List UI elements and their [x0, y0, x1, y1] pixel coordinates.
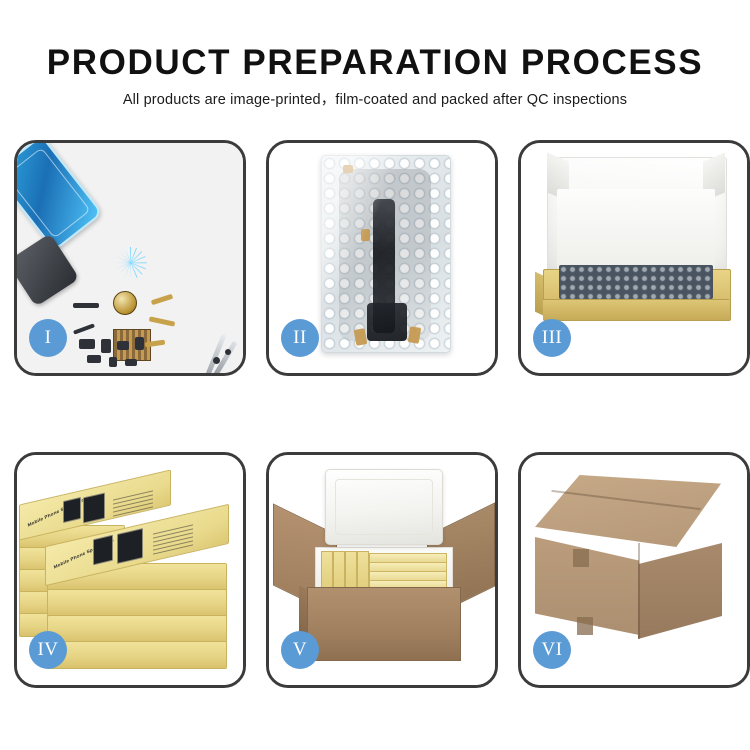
carton-tape — [573, 549, 589, 567]
step-panel-2[interactable]: II — [266, 140, 498, 376]
foam-sheet-icon — [557, 189, 715, 271]
step-badge-2: II — [281, 319, 319, 357]
box-window-icon — [63, 497, 81, 523]
chip-icon — [79, 339, 95, 349]
step-panel-1[interactable]: I — [14, 140, 246, 376]
tape-tab-icon — [361, 229, 370, 241]
chip-icon — [135, 337, 144, 350]
styrofoam-lid-icon — [325, 469, 443, 545]
stacked-box — [47, 589, 227, 617]
chip-icon — [73, 303, 99, 308]
screw-icon — [213, 357, 220, 364]
step-panel-5[interactable]: V — [266, 452, 498, 688]
box-window-icon — [117, 528, 143, 564]
screw-icon — [225, 349, 231, 355]
step-badge-5: V — [281, 631, 319, 669]
connector-block-icon — [367, 303, 407, 341]
box-window-icon — [93, 535, 113, 566]
chip-icon — [109, 357, 117, 367]
chip-icon — [87, 355, 101, 363]
step-badge-1: I — [29, 319, 67, 357]
stacked-box — [47, 615, 227, 643]
step-badge-3: III — [533, 319, 571, 357]
step-panel-6[interactable]: VI — [518, 452, 750, 688]
stacked-box — [47, 641, 227, 669]
chip-icon — [101, 339, 111, 353]
step-panel-3[interactable]: III — [518, 140, 750, 376]
chip-icon — [125, 359, 137, 366]
carton-body — [307, 587, 461, 661]
step-badge-4: IV — [29, 631, 67, 669]
carton-edge — [638, 543, 640, 639]
carton-tape — [577, 617, 593, 635]
bubble-wrap-fill-icon — [559, 265, 713, 299]
tray-front-face — [543, 299, 729, 320]
step-badge-6: VI — [533, 631, 571, 669]
step-panel-4[interactable]: Mobile Phone Spare Parts Mobile Phone Sp… — [14, 452, 246, 688]
speaker-component-icon — [113, 291, 137, 315]
chip-icon — [117, 341, 129, 350]
tape-tab-icon — [343, 165, 353, 173]
box-window-icon — [83, 492, 105, 523]
process-steps-grid: I II III — [0, 0, 750, 750]
